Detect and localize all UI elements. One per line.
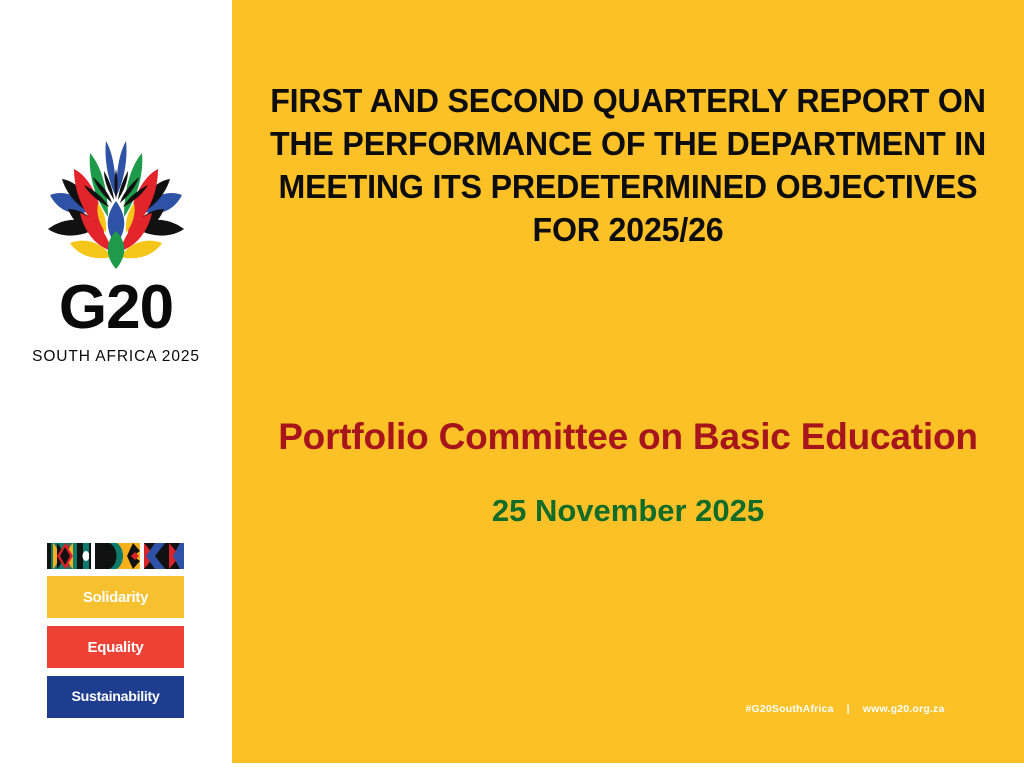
g20-tagline: SOUTH AFRICA 2025 bbox=[0, 348, 232, 366]
slide-footer: #G20SouthAfrica|www.g20.org.za bbox=[700, 703, 990, 715]
ndebele-pattern-strip-icon bbox=[47, 543, 184, 569]
footer-separator: | bbox=[847, 703, 850, 715]
presentation-slide: FIRST AND SECOND QUARTERLY REPORT ON THE… bbox=[0, 0, 1024, 768]
badge-sustainability: Sustainability bbox=[47, 676, 184, 718]
title-block: FIRST AND SECOND QUARTERLY REPORT ON THE… bbox=[254, 80, 1002, 252]
protea-flower-emblem-icon bbox=[46, 125, 186, 275]
footer-hashtag: #G20SouthAfrica bbox=[745, 703, 833, 715]
badge-equality: Equality bbox=[47, 626, 184, 668]
brand-sidebar: G20 SOUTH AFRICA 2025 bbox=[0, 0, 232, 768]
badge-solidarity: Solidarity bbox=[47, 576, 184, 618]
g20-wordmark: G20 bbox=[0, 277, 232, 339]
values-badge-group: Solidarity Equality Sustainability bbox=[47, 576, 184, 726]
subtitle-block: Portfolio Committee on Basic Education 2… bbox=[254, 415, 1002, 529]
slide-date: 25 November 2025 bbox=[254, 493, 1002, 529]
page-title: FIRST AND SECOND QUARTERLY REPORT ON THE… bbox=[269, 80, 987, 252]
slide-subtitle: Portfolio Committee on Basic Education bbox=[254, 415, 1002, 458]
footer-website[interactable]: www.g20.org.za bbox=[863, 703, 945, 715]
